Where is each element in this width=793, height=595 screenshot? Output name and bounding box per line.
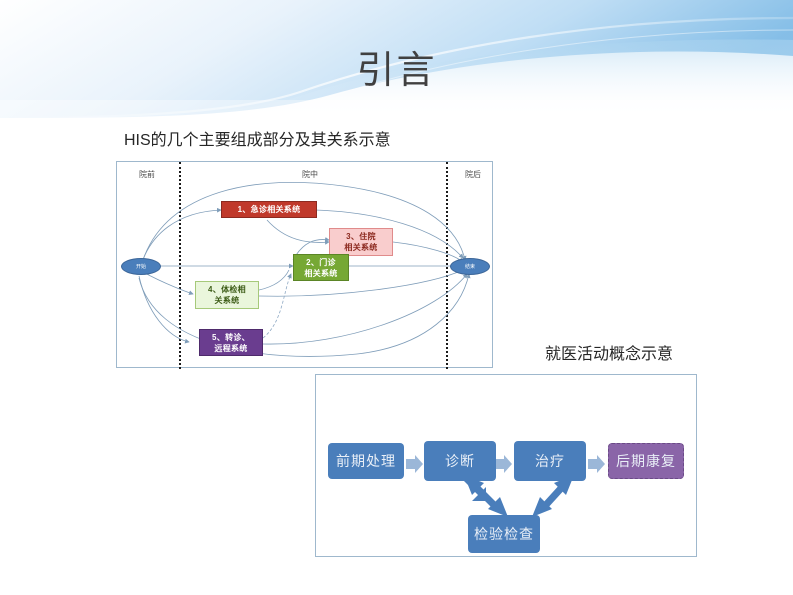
page-title: 引言 — [0, 48, 793, 94]
flow-box-diagnosis: 诊断 — [424, 441, 496, 481]
slide-canvas: 引言 HIS的几个主要组成部分及其关系示意 院前 院中 院后 — [0, 0, 793, 595]
node-referral-telemedicine-system: 5、转诊、 远程系统 — [199, 329, 263, 356]
flow-box-examination: 检验检查 — [468, 515, 540, 553]
node-physical-exam-system: 4、体检相 关系统 — [195, 281, 259, 309]
flow-box-treatment: 治疗 — [514, 441, 586, 481]
diagram-care-activity: 前期处理 诊断 治疗 后期康复 检验检查 — [315, 374, 697, 557]
flow-box-rehabilitation: 后期康复 — [608, 443, 684, 479]
diagram-b-title: 就医活动概念示意 — [545, 345, 673, 365]
terminal-start: 开始 — [121, 258, 161, 275]
node-emergency-system: 1、急诊相关系统 — [221, 201, 317, 218]
terminal-end: 结束 — [450, 258, 490, 275]
flow-box-preprocessing: 前期处理 — [328, 443, 404, 479]
diagram-his-components: 院前 院中 院后 — [116, 161, 493, 368]
diagram-a-title: HIS的几个主要组成部分及其关系示意 — [124, 131, 391, 151]
node-inpatient-system: 3、住院 相关系统 — [329, 228, 393, 256]
node-outpatient-system: 2、门诊 相关系统 — [293, 254, 349, 281]
